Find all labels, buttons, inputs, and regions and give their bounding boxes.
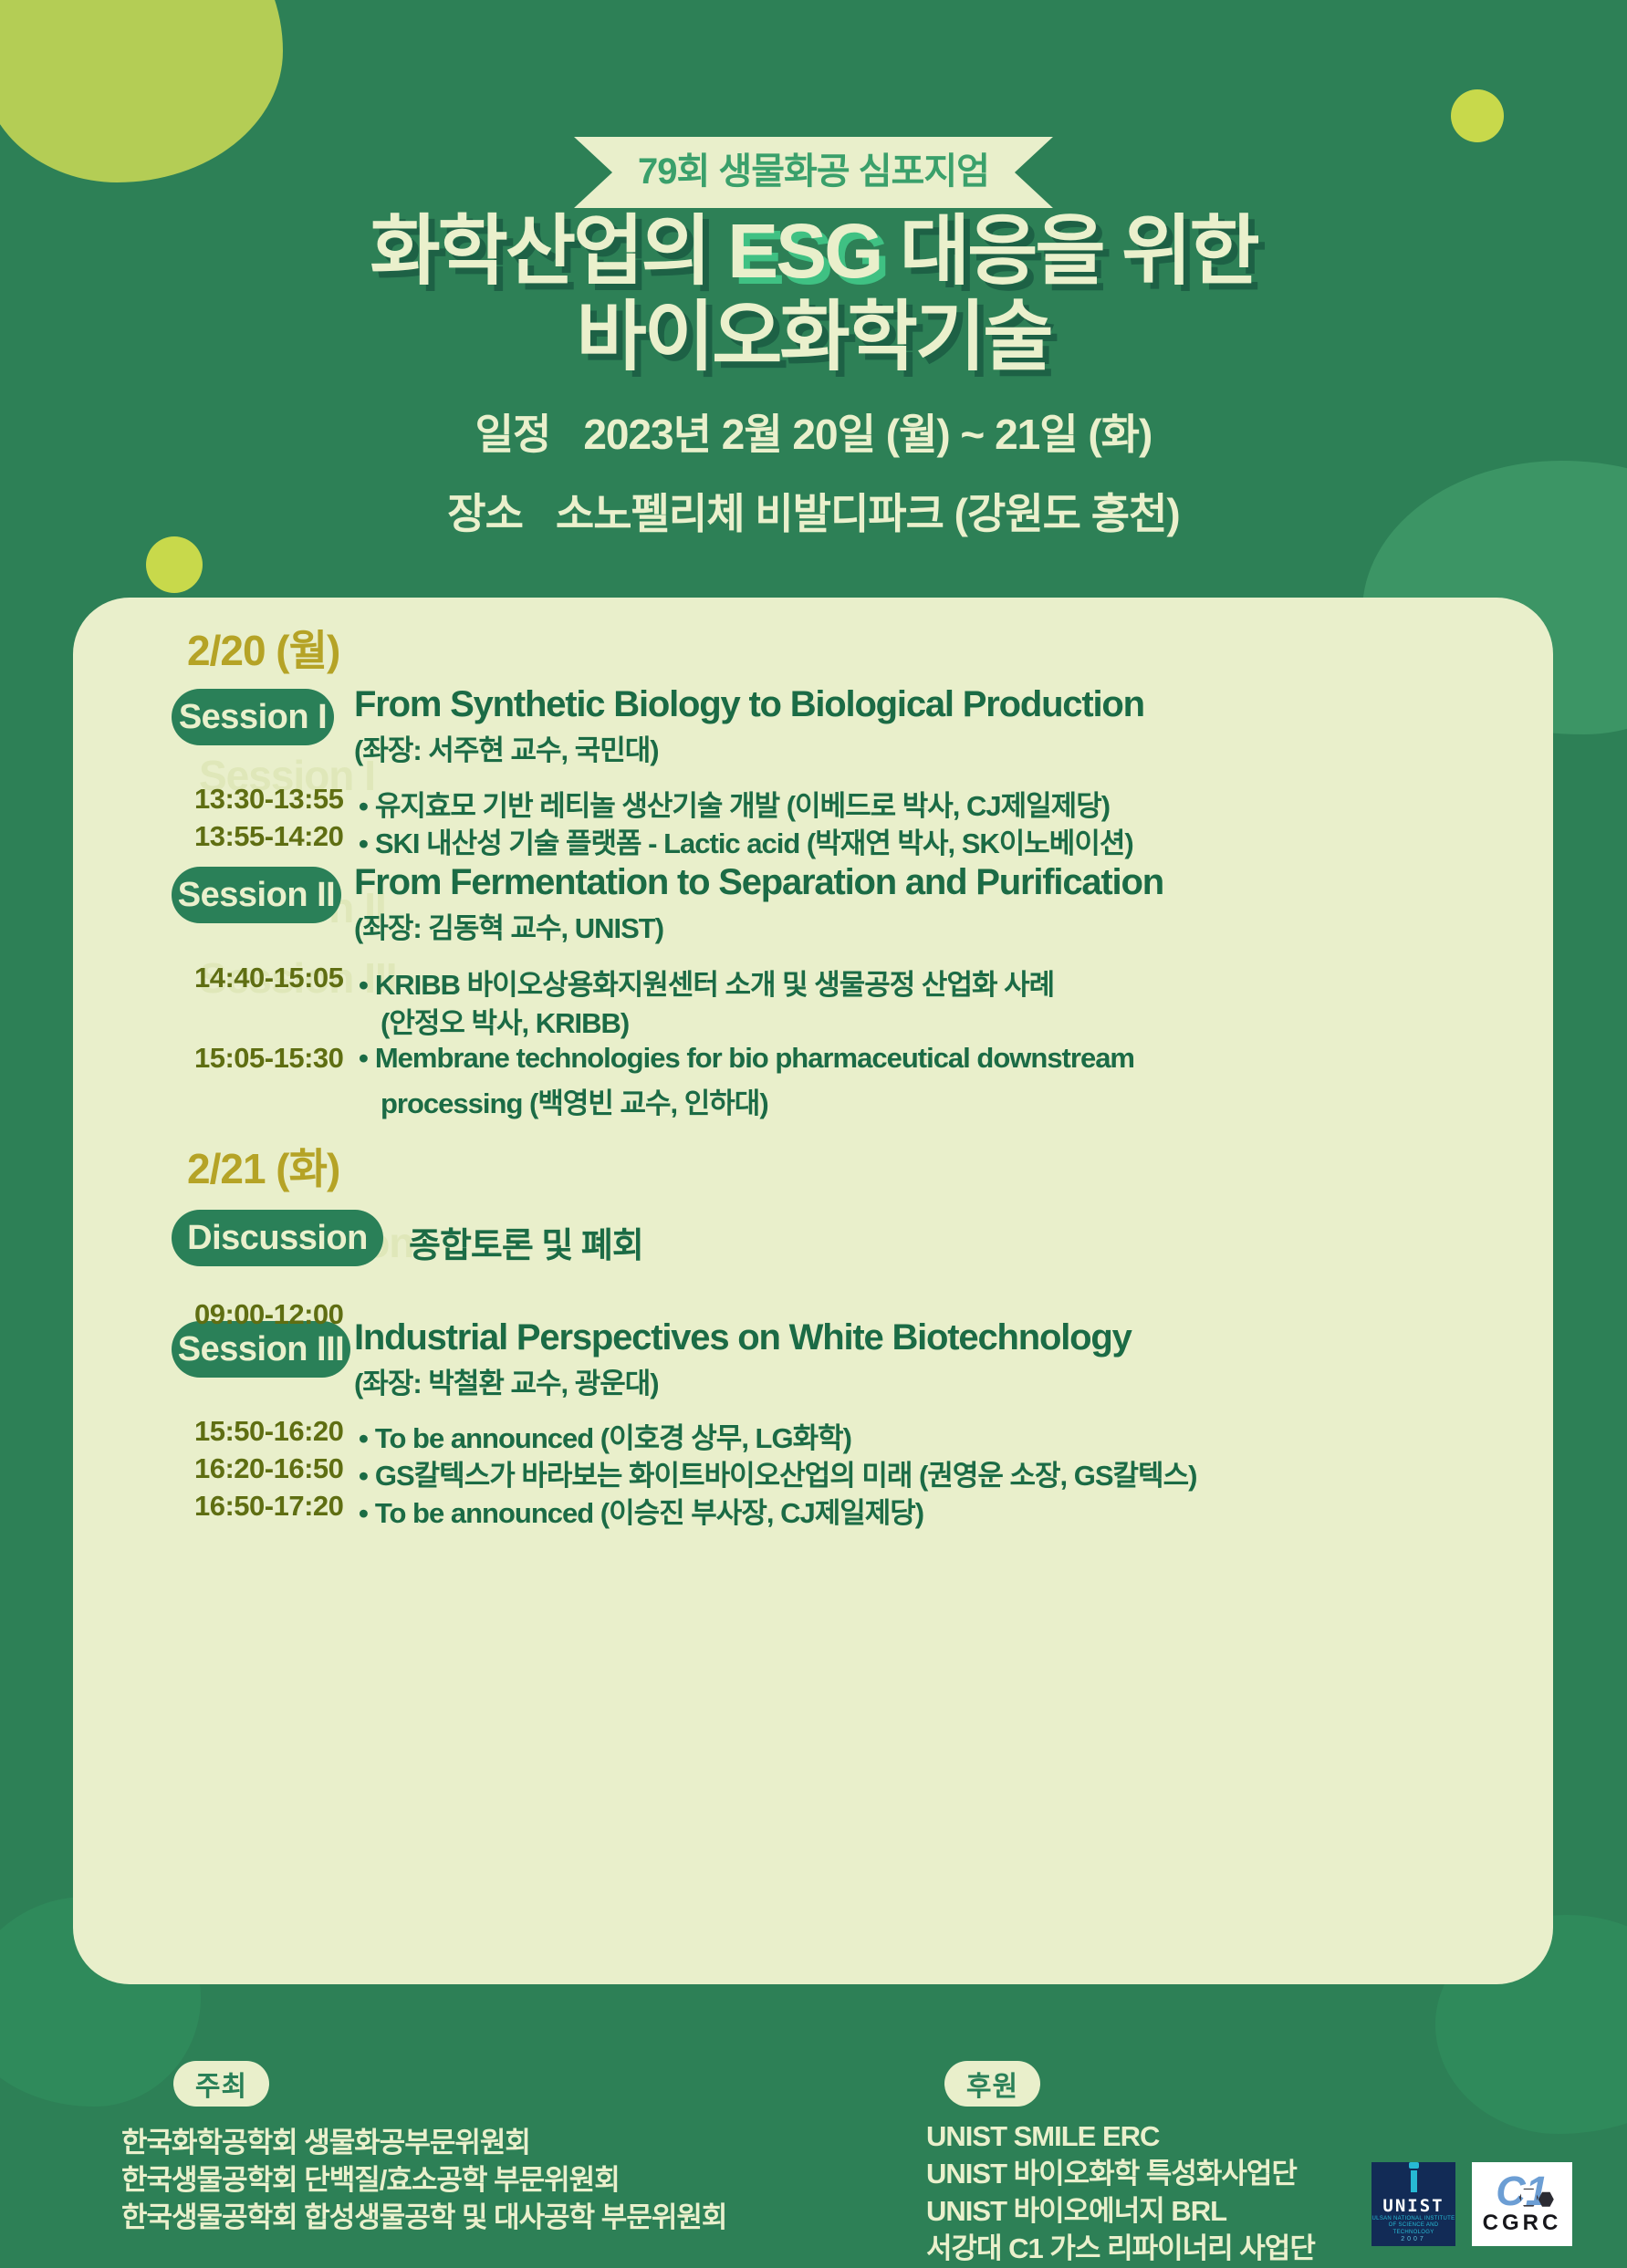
host-badge: 주최 (173, 2061, 269, 2107)
talk-text-cont: (안정오 박사, KRIBB) (381, 1000, 629, 1041)
talk-text: Membrane technologies for bio pharmaceut… (375, 1042, 1134, 1074)
session-pill-1[interactable]: Session I (172, 689, 334, 745)
unist-year: 2007 (1401, 2236, 1426, 2242)
talk-time: 13:55-14:20 (194, 820, 343, 853)
event-place-row: 장소소노펠리체 비발디파크 (강원도 홍천) (0, 481, 1627, 541)
bullet-icon: • (359, 1460, 368, 1492)
page-title-line-1-part-a: 화학산업의 (370, 208, 727, 294)
sponsor-item: 서강대 C1 가스 리파이너리 사업단 (926, 2231, 1315, 2268)
talk-text: GS칼텍스가 바라보는 화이트바이오산업의 미래 (권영운 소장, GS칼텍스) (375, 1460, 1197, 1492)
session-title-2: From Fermentation to Separation and Puri… (354, 862, 1163, 903)
hexagon-icon (1519, 2174, 1554, 2211)
event-date-row: 일정2023년 2월 20일 (월) ~ 21일 (화) (0, 401, 1627, 462)
event-place-label: 장소 (447, 490, 523, 537)
sponsor-item: UNIST 바이오화학 특성화사업단 (926, 2156, 1315, 2193)
blob-dot-left (146, 536, 203, 593)
host-item: 한국화학공학회 생물화공부문위원회 (121, 2125, 726, 2162)
session-title-3: Industrial Perspectives on White Biotech… (354, 1317, 1132, 1358)
session-pill-2[interactable]: Session II (172, 867, 341, 923)
program-card: 2/20 (월) Session I Session II Session II… (73, 598, 1553, 1984)
unist-bar-icon (1411, 2170, 1417, 2191)
talk-item: •Membrane technologies for bio pharmaceu… (359, 1042, 1134, 1075)
discussion-text: 종합토론 및 폐회 (409, 1217, 643, 1267)
host-item: 한국생물공학회 합성생물공학 및 대사공학 부문위원회 (121, 2200, 726, 2237)
hexagon-filled-icon (1538, 2191, 1554, 2207)
talk-time: 13:30-13:55 (194, 783, 343, 816)
talk-time: 15:50-16:20 (194, 1415, 343, 1448)
bullet-icon: • (359, 1422, 368, 1454)
talk-item: •To be announced (이승진 부사장, CJ제일제당) (359, 1490, 923, 1531)
ribbon-shape: 79회 생물화공 심포지엄 (574, 137, 1053, 208)
talk-item: •GS칼텍스가 바라보는 화이트바이오산업의 미래 (권영운 소장, GS칼텍스… (359, 1452, 1196, 1493)
session-chair-2: (좌장: 김동혁 교수, UNIST) (354, 905, 663, 946)
bullet-icon: • (359, 827, 368, 859)
blob-dot-top-right (1451, 89, 1504, 142)
talk-time: 15:05-15:30 (194, 1042, 343, 1075)
bullet-icon: • (359, 1042, 368, 1074)
day-label-1: 2/20 (월) (187, 618, 339, 678)
page-title-esg: ESG (727, 208, 881, 294)
host-list: 한국화학공학회 생물화공부문위원회 한국생물공학회 단백질/효소공학 부문위원회… (121, 2125, 726, 2237)
talk-item: •KRIBB 바이오상용화지원센터 소개 및 생물공정 산업화 사례 (359, 962, 1054, 1003)
event-date-label: 일정 (475, 411, 551, 458)
bullet-icon: • (359, 1497, 368, 1529)
session-chair-3: (좌장: 박철환 교수, 광운대) (354, 1360, 659, 1401)
c1-cgrc-logo: C1 CGRC (1472, 2162, 1572, 2246)
talk-item: •To be announced (이호경 상무, LG화학) (359, 1415, 851, 1456)
sponsor-item: UNIST SMILE ERC (926, 2118, 1315, 2156)
unist-wordmark: UNIST (1382, 2196, 1444, 2216)
ribbon-banner: 79회 생물화공 심포지엄 (0, 137, 1627, 208)
sponsor-badge: 후원 (944, 2061, 1040, 2107)
page-title-line-2: 바이오화학기술 (0, 294, 1627, 380)
talk-text: SKI 내산성 기술 플랫폼 - Lactic acid (박재연 박사, SK… (375, 827, 1133, 859)
page-title-line-1-part-b: 대응을 위한 (881, 208, 1257, 294)
talk-text: To be announced (이호경 상무, LG화학) (375, 1422, 851, 1454)
unist-logo: UNIST ULSAN NATIONAL INSTITUTE OF SCIENC… (1371, 2162, 1455, 2246)
talk-time: 16:20-16:50 (194, 1452, 343, 1485)
c1-mark: C1 (1496, 2172, 1549, 2210)
event-edition-label: 79회 생물화공 심포지엄 (638, 151, 989, 192)
hexagon-outline-icon (1519, 2188, 1538, 2207)
bullet-icon: • (359, 969, 368, 1001)
talk-text: 유지효모 기반 레티놀 생산기술 개발 (이베드로 박사, CJ제일제당) (375, 790, 1110, 822)
sponsor-item: UNIST 바이오에너지 BRL (926, 2193, 1315, 2231)
unist-spark-icon (1409, 2162, 1419, 2169)
host-item: 한국생물공학회 단백질/효소공학 부문위원회 (121, 2162, 726, 2200)
talk-item: •SKI 내산성 기술 플랫폼 - Lactic acid (박재연 박사, S… (359, 820, 1133, 861)
event-place-value: 소노펠리체 비발디파크 (강원도 홍천) (556, 490, 1180, 537)
page-title-line-1: 화학산업의 ESG 대응을 위한 (0, 208, 1627, 294)
talk-text-cont: processing (백영빈 교수, 인하대) (381, 1080, 768, 1121)
bullet-icon: • (359, 790, 368, 822)
page-title: 화학산업의 ESG 대응을 위한 바이오화학기술 (0, 208, 1627, 380)
talk-time: 16:50-17:20 (194, 1490, 343, 1523)
talk-time: 14:40-15:05 (194, 962, 343, 994)
talk-text: KRIBB 바이오상용화지원센터 소개 및 생물공정 산업화 사례 (375, 969, 1054, 1001)
event-date-value: 2023년 2월 20일 (월) ~ 21일 (화) (583, 411, 1152, 458)
session-chair-1: (좌장: 서주현 교수, 국민대) (354, 727, 659, 768)
sponsor-list: UNIST SMILE ERC UNIST 바이오화학 특성화사업단 UNIST… (926, 2118, 1315, 2268)
unist-subtitle: ULSAN NATIONAL INSTITUTE OF SCIENCE AND … (1371, 2216, 1455, 2237)
host-badge-wrap: 주최 (173, 2061, 269, 2107)
discussion-time: 09:00-12:00 (194, 1298, 343, 1331)
session-title-1: From Synthetic Biology to Biological Pro… (354, 684, 1144, 725)
talk-text: To be announced (이승진 부사장, CJ제일제당) (375, 1497, 923, 1529)
talk-item: •유지효모 기반 레티놀 생산기술 개발 (이베드로 박사, CJ제일제당) (359, 783, 1110, 824)
sponsor-badge-wrap: 후원 (944, 2061, 1040, 2107)
discussion-pill[interactable]: Discussion (172, 1210, 383, 1266)
day-label-2: 2/21 (화) (187, 1136, 339, 1196)
